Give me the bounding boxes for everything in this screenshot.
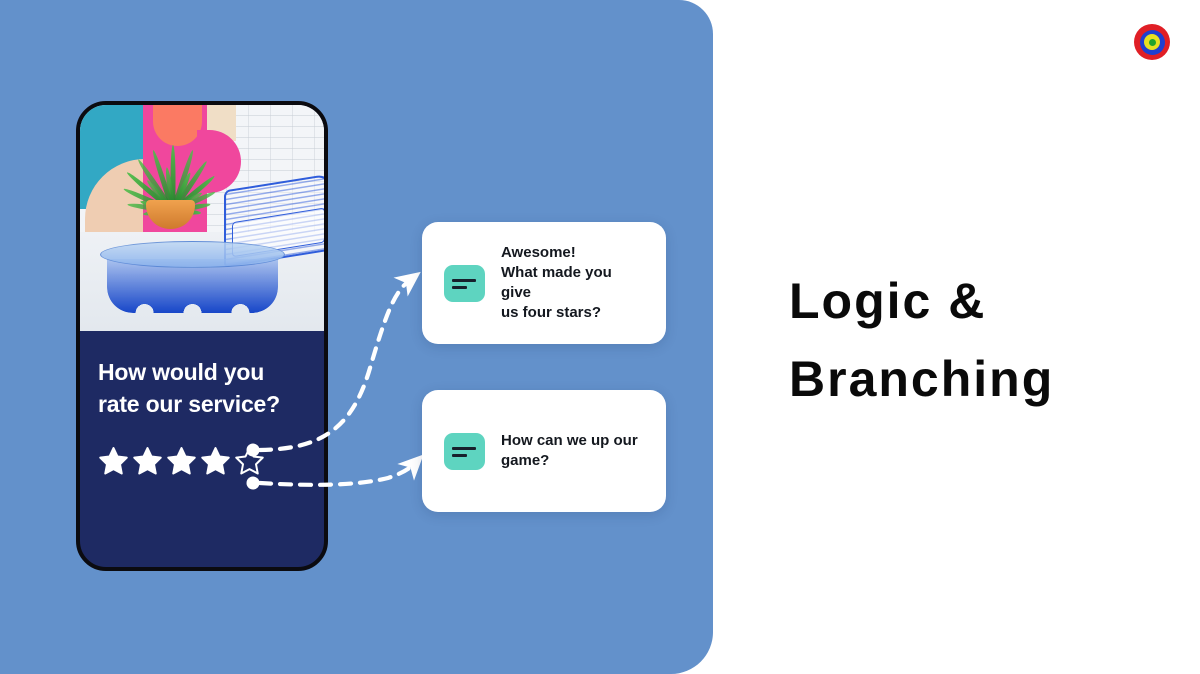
option-card-text: Awesome! What made you give us four star… [501, 243, 644, 323]
star-rating[interactable] [98, 446, 306, 476]
option-card-line: How can we up our [501, 431, 638, 451]
option-card-line: What made you give [501, 263, 644, 303]
page-title: Logic & Branching [789, 263, 1119, 418]
logo-second-ring-icon [1140, 30, 1165, 55]
option-card-up-our-game[interactable]: How can we up our game? [422, 390, 666, 512]
option-card-line: us four stars? [501, 303, 644, 323]
phone-mockup: How would you rate our service? [76, 101, 328, 571]
logo-outer-ring-icon [1134, 24, 1170, 60]
photo-table-top [100, 241, 285, 268]
filled-star-icon[interactable] [132, 446, 163, 476]
filled-star-icon[interactable] [98, 446, 129, 476]
brand-logo [1134, 24, 1170, 60]
survey-question: How would you rate our service? [98, 357, 306, 420]
logo-third-ring-icon [1144, 34, 1160, 50]
option-card-line: Awesome! [501, 243, 644, 263]
text-question-icon [444, 265, 485, 302]
filled-star-icon[interactable] [166, 446, 197, 476]
phone-screen-body: How would you rate our service? [80, 331, 324, 476]
survey-photo [80, 105, 324, 331]
logo-center-dot-icon [1149, 39, 1156, 46]
option-card-text: How can we up our game? [501, 431, 638, 471]
option-card-awesome[interactable]: Awesome! What made you give us four star… [422, 222, 666, 344]
page-title-line-2: Branching [789, 341, 1119, 419]
option-card-line: game? [501, 451, 638, 471]
slide-canvas: How would you rate our service? Awesome!… [0, 0, 1200, 674]
text-question-icon [444, 433, 485, 470]
page-title-line-1: Logic & [789, 263, 1119, 341]
filled-star-icon[interactable] [200, 446, 231, 476]
empty-star-icon[interactable] [234, 446, 265, 476]
